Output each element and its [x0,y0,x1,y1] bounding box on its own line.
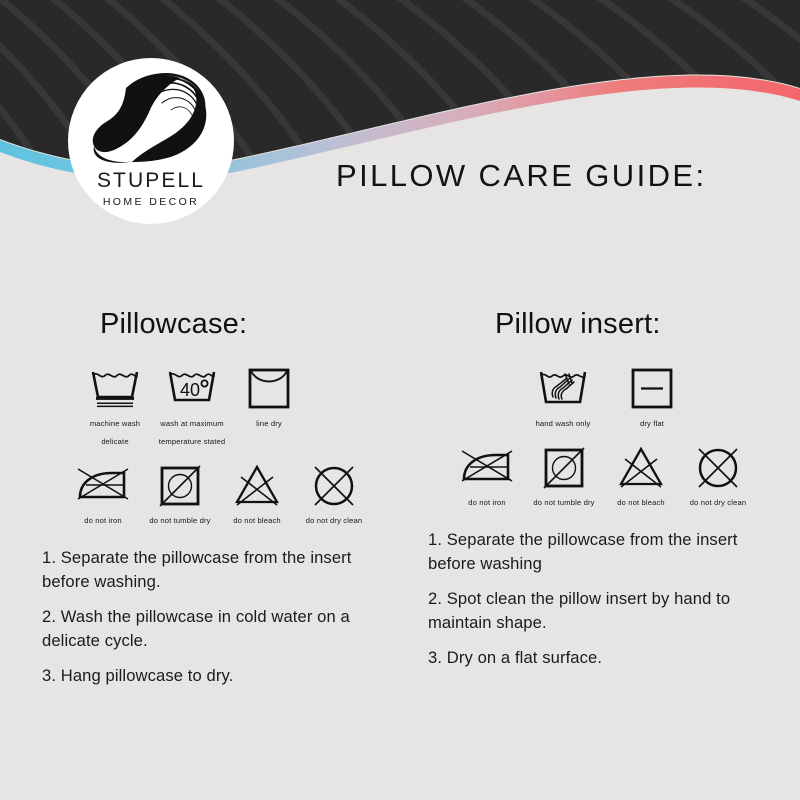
care-icon-caption: do not bleach [233,516,281,525]
icon-row: do not iron do not tumble dry [10,458,400,528]
wash-at-40-degrees-icon: 40 [155,361,229,413]
icon-row: hand wash only dry flat [400,361,790,431]
line-dry-icon [232,361,306,413]
care-icon-cell: 40 wash at maximum temperature stated [155,361,229,449]
instruction-step: 1. Separate the pillowcase from the inse… [42,546,382,593]
icon-row: do not iron do not tumble dry [400,440,790,510]
pillowcase-section: Pillowcase: [10,310,400,700]
do-not-iron-icon [66,458,140,510]
stupell-s-swoosh-logo [68,66,234,171]
section-heading-pillowcase: Pillowcase: [10,310,400,339]
section-heading-pillow-insert: Pillow insert: [400,310,790,339]
care-icon-caption: do not iron [468,498,506,507]
pillowcase-icon-grid: machine wash delicate 40 [10,361,400,528]
do-not-tumble-dry-icon [527,440,601,492]
care-icon-caption: hand wash only [536,419,591,428]
care-icon-cell: do not dry clean [297,458,371,528]
care-icon-caption: machine wash delicate [90,419,140,446]
care-icon-caption: wash at maximum temperature stated [159,419,225,446]
icon-row: machine wash delicate 40 [10,361,400,449]
care-icon-cell: machine wash delicate [78,361,152,449]
care-icon-cell: do not bleach [220,458,294,528]
do-not-dry-clean-icon [297,458,371,510]
pillowcase-instructions: 1. Separate the pillowcase from the inse… [10,546,400,688]
care-icon-caption: do not tumble dry [149,516,210,525]
pillow-insert-section: Pillow insert: [400,310,790,682]
care-icon-caption: do not bleach [617,498,665,507]
instruction-step: 1. Separate the pillowcase from the inse… [428,528,780,575]
brand-tagline: HOME DECOR [68,197,234,208]
instruction-step: 3. Hang pillowcase to dry. [42,664,382,688]
care-icon-caption: do not tumble dry [533,498,594,507]
instruction-step: 2. Wash the pillowcase in cold water on … [42,605,382,652]
machine-wash-delicate-icon [78,361,152,413]
do-not-bleach-icon [604,440,678,492]
care-icon-cell: do not iron [450,440,524,510]
do-not-iron-icon [450,440,524,492]
instruction-step: 3. Dry on a flat surface. [428,646,780,670]
care-icon-cell: dry flat [609,361,695,431]
dry-flat-icon [609,361,695,413]
do-not-tumble-dry-icon [143,458,217,510]
brand-logo: STUPELL HOME DECOR [68,58,234,224]
care-icon-caption: line dry [256,419,282,428]
wash-temperature-value: 40 [180,380,200,400]
do-not-dry-clean-icon [681,440,755,492]
instruction-step: 2. Spot clean the pillow insert by hand … [428,587,780,634]
care-icon-cell: do not iron [66,458,140,528]
care-icon-cell: do not bleach [604,440,678,510]
care-icon-caption: dry flat [640,419,664,428]
care-icon-cell: line dry [232,361,306,431]
care-icon-cell: hand wash only [520,361,606,431]
care-icon-cell: do not dry clean [681,440,755,510]
pillow-insert-icon-grid: hand wash only dry flat [400,361,790,510]
care-icon-caption: do not iron [84,516,122,525]
pillow-care-guide-page: STUPELL HOME DECOR PILLOW CARE GUIDE: Pi… [0,0,800,800]
do-not-bleach-icon [220,458,294,510]
hand-wash-only-icon [520,361,606,413]
pillow-insert-instructions: 1. Separate the pillowcase from the inse… [400,528,790,670]
brand-name: STUPELL [68,170,234,191]
care-icon-cell: do not tumble dry [527,440,601,510]
page-title: PILLOW CARE GUIDE: [336,160,707,191]
care-icon-caption: do not dry clean [690,498,746,507]
care-icon-cell: do not tumble dry [143,458,217,528]
care-icon-caption: do not dry clean [306,516,362,525]
